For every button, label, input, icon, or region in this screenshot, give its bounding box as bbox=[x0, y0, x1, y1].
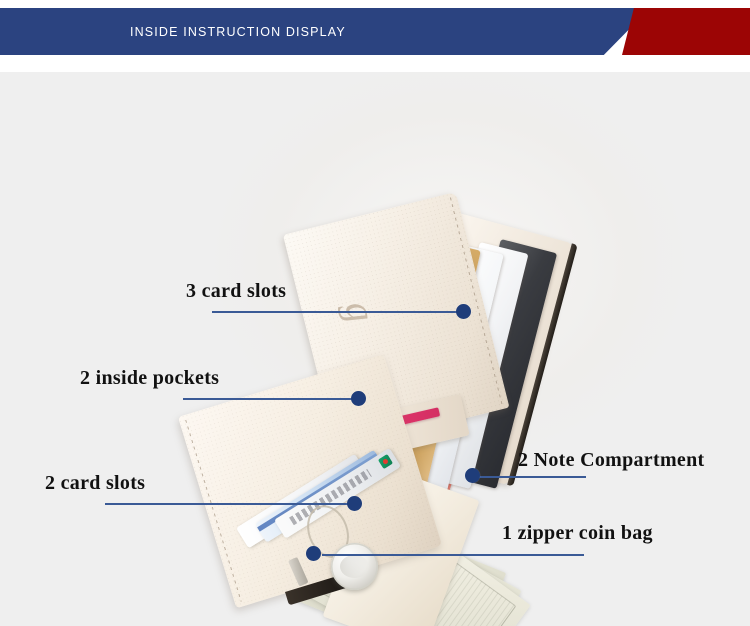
coin bbox=[331, 543, 378, 590]
callout-dot bbox=[351, 391, 366, 406]
infographic-root: INSIDE INSTRUCTION DISPLAY bbox=[0, 0, 750, 626]
callout-label: 1 zipper coin bag bbox=[502, 522, 653, 545]
banner-title: INSIDE INSTRUCTION DISPLAY bbox=[130, 8, 346, 55]
callout-label: 2 card slots bbox=[45, 472, 145, 495]
callout-dot bbox=[465, 468, 480, 483]
product-photo-stage: g 3 card slots bbox=[0, 72, 750, 626]
callout-line bbox=[212, 311, 464, 313]
callout-line bbox=[322, 554, 584, 556]
callout-dot bbox=[347, 496, 362, 511]
header-banner: INSIDE INSTRUCTION DISPLAY bbox=[0, 0, 750, 72]
callout-label: 2 inside pockets bbox=[80, 367, 219, 390]
banner-red-shape bbox=[622, 8, 750, 55]
callout-line bbox=[476, 476, 586, 478]
callout-label: 3 card slots bbox=[186, 280, 286, 303]
callout-dot bbox=[456, 304, 471, 319]
callout-line bbox=[183, 398, 359, 400]
callout-dot bbox=[306, 546, 321, 561]
callout-line bbox=[105, 503, 355, 505]
callout-label: 2 Note Compartment bbox=[518, 449, 704, 472]
